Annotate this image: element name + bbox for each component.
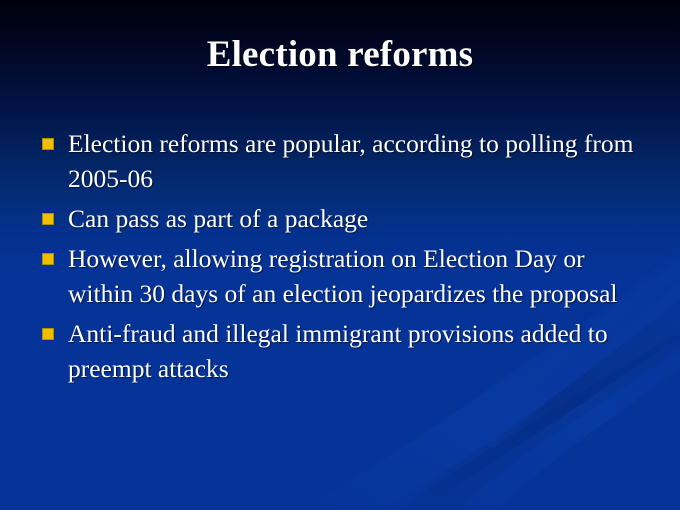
bullet-item: However, allowing registration on Electi… xyxy=(40,241,640,311)
slide-title: Election reforms xyxy=(0,36,680,75)
bullet-item: Can pass as part of a package xyxy=(40,201,640,236)
bullet-text: Anti-fraud and illegal immigrant provisi… xyxy=(68,316,640,386)
bullet-square-icon xyxy=(42,253,54,265)
bullet-square-icon xyxy=(42,328,54,340)
presentation-slide: Election reforms Election reforms are po… xyxy=(0,0,680,510)
bullet-item: Anti-fraud and illegal immigrant provisi… xyxy=(40,316,640,386)
bullet-text: Can pass as part of a package xyxy=(68,201,640,236)
bullet-square-icon xyxy=(42,138,54,150)
bullet-list: Election reforms are popular, according … xyxy=(40,126,640,391)
bullet-item: Election reforms are popular, according … xyxy=(40,126,640,196)
bullet-text: Election reforms are popular, according … xyxy=(68,126,640,196)
bullet-square-icon xyxy=(42,213,54,225)
bullet-text: However, allowing registration on Electi… xyxy=(68,241,640,311)
